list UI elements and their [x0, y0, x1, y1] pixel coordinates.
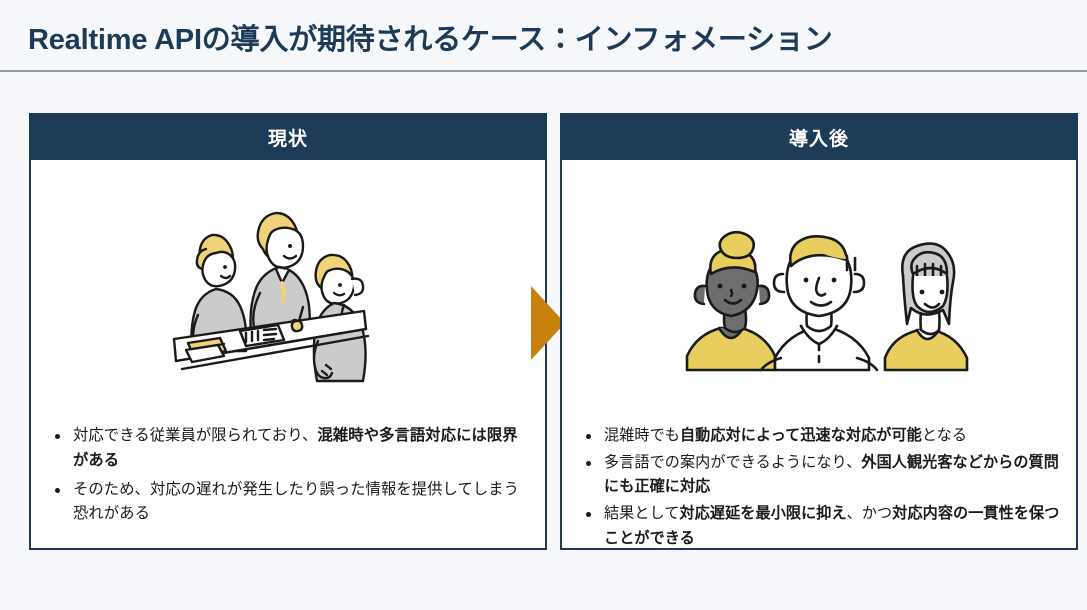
panel-current-state-body: 対応できる従業員が限られており、混雑時や多言語対応には限界がある そのため、対応…: [31, 160, 545, 548]
bullet-text: そのため、対応の遅れが発生したり誤った情報を提供してしまう恐れがある: [73, 481, 519, 523]
list-item: 多言語での案内ができるようになり、外国人観光客などからの質問にも正確に対応: [580, 451, 1062, 499]
after-introduction-bullet-list: 混雑時でも自動応対によって迅速な対応が可能となる 多言語での案内ができるようにな…: [580, 424, 1062, 554]
information-counter-staff-illustration: [31, 160, 545, 425]
bullet-text: 多言語での案内ができるようになり、外国人観光客などからの質問にも正確に対応: [604, 454, 1059, 495]
panel-current-state: 現状: [29, 113, 547, 550]
list-item: 結果として対応遅延を最小限に抑え、かつ対応内容の一貫性を保つことができる: [580, 502, 1062, 550]
three-smiling-people-illustration: [562, 160, 1076, 425]
list-item: そのため、対応の遅れが発生したり誤った情報を提供してしまう恐れがある: [49, 478, 531, 528]
bullet-text: 結果として対応遅延を最小限に抑え、かつ対応内容の一貫性を保つことができる: [604, 505, 1059, 546]
list-item: 混雑時でも自動応対によって迅速な対応が可能となる: [580, 424, 1062, 448]
bullet-text: 対応できる従業員が限られており、混雑時や多言語対応には限界がある: [73, 427, 518, 469]
list-item: 対応できる従業員が限られており、混雑時や多言語対応には限界がある: [49, 424, 531, 474]
current-state-bullet-list: 対応できる従業員が限られており、混雑時や多言語対応には限界がある そのため、対応…: [49, 424, 531, 531]
panel-current-state-header: 現状: [31, 115, 545, 160]
panel-after-introduction-body: 混雑時でも自動応対によって迅速な対応が可能となる 多言語での案内ができるようにな…: [562, 160, 1076, 548]
title-divider: [0, 70, 1087, 72]
panel-after-introduction-header: 導入後: [562, 115, 1076, 160]
bullet-text: 混雑時でも自動応対によって迅速な対応が可能となる: [604, 427, 967, 444]
panel-after-introduction: 導入後: [560, 113, 1078, 550]
page-title: Realtime APIの導入が期待されるケース：インフォメーション: [28, 16, 833, 58]
